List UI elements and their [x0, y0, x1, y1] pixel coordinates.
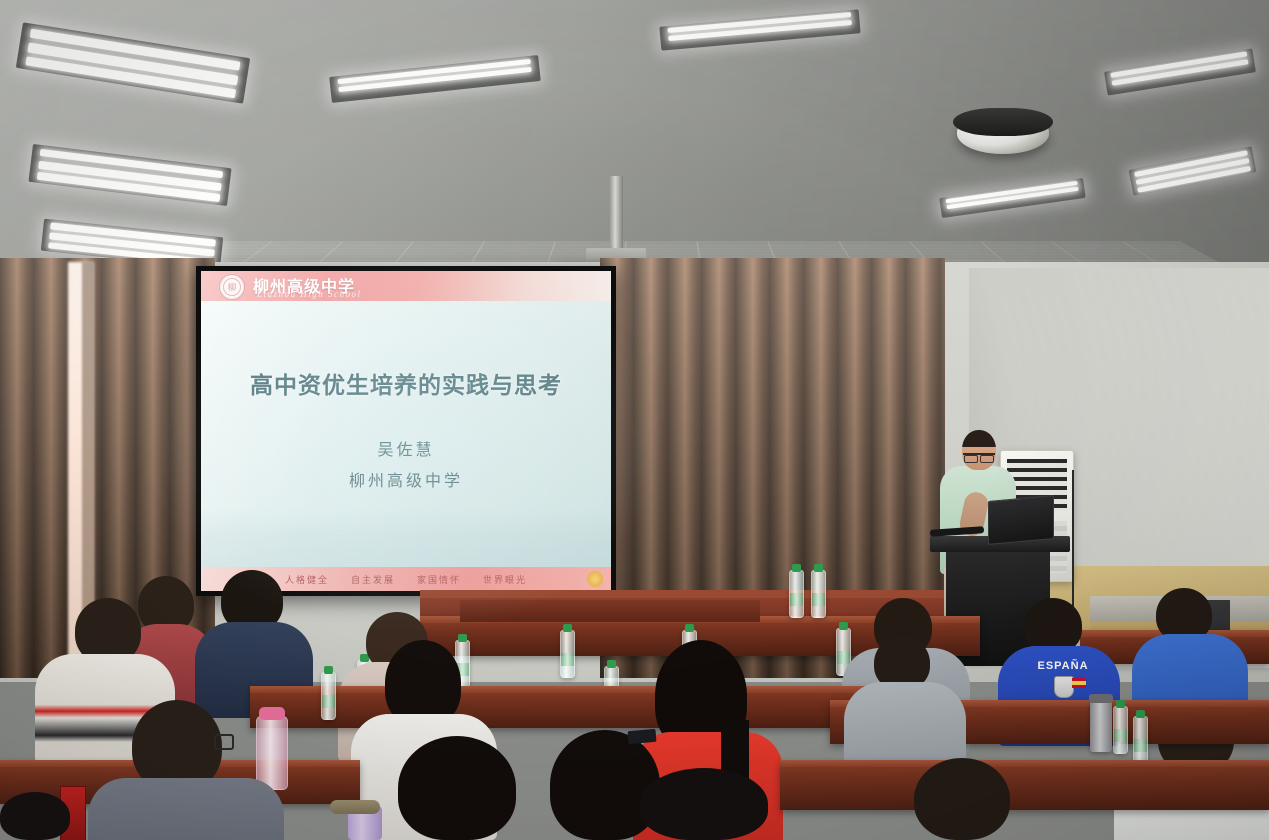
slide-motto-3: 家国情怀 [417, 573, 461, 586]
water-bottle [1133, 716, 1148, 764]
presenter-glasses-icon [963, 453, 995, 461]
water-bottle [811, 570, 826, 618]
audience-hair [398, 736, 516, 840]
thermos-flask [1090, 700, 1112, 752]
water-bottle [321, 672, 336, 720]
projection-screen-frame: 柳 柳州高级中学 Liuzhou High School 高中资优生培养的实践与… [196, 266, 616, 596]
jersey-crest-icon [1054, 676, 1074, 698]
water-bottle [1113, 706, 1128, 754]
pink-water-bottle [256, 716, 288, 790]
phone-on-desk [627, 729, 656, 744]
slide-title: 高中资优生培养的实践与思考 [201, 366, 611, 400]
presenter-head [962, 430, 996, 470]
desk-row [250, 686, 870, 728]
desk-row [780, 760, 1269, 810]
slide-presenter-name: 吴佐慧 [201, 436, 611, 460]
audience-torso [88, 778, 284, 840]
audience-glasses-icon [214, 734, 234, 750]
conference-room-photo: 柳 柳州高级中学 Liuzhou High School 高中资优生培养的实践与… [0, 0, 1269, 840]
jersey-flag-icon [1072, 678, 1086, 688]
bottle-cap-icon [259, 707, 285, 720]
slide-affiliation: 柳州高级中学 [201, 467, 611, 491]
ceiling-speaker-icon [957, 112, 1049, 154]
rolled-paper [330, 800, 380, 814]
projection-screen: 柳 柳州高级中学 Liuzhou High School 高中资优生培养的实践与… [201, 271, 611, 591]
slide-footer-logo-icon [587, 571, 603, 587]
audience-hair [0, 792, 70, 840]
presenter-laptop[interactable] [988, 495, 1054, 545]
water-bottle [789, 570, 804, 618]
water-bottle [560, 630, 575, 678]
bench-backrest [460, 600, 760, 622]
audience-hair [640, 768, 768, 840]
audience-head [914, 758, 1010, 840]
slide-motto-1: 人格健全 [285, 573, 329, 586]
jersey-text: ESPAÑA [1028, 660, 1098, 672]
audience-hair [550, 730, 660, 840]
projector-mount-pole [610, 176, 623, 252]
slide-motto-4: 世界眼光 [483, 573, 527, 586]
slide-motto-2: 自主发展 [351, 573, 395, 586]
